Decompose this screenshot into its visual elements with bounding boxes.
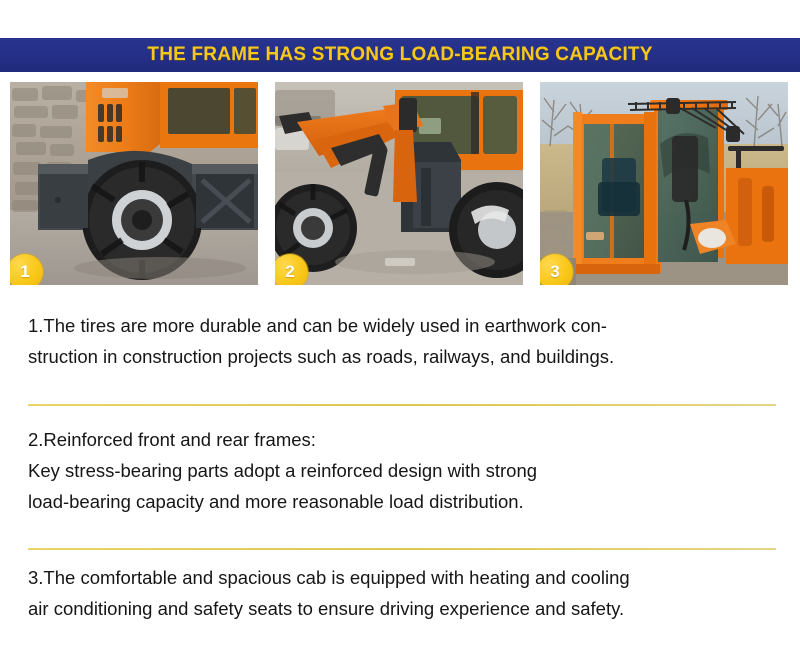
operator-cab-photo [540,82,788,285]
product-feature-panel: THE FRAME HAS STRONG LOAD-BEARING CAPACI… [0,0,800,662]
feature-paragraph-3: 3.The comfortable and spacious cab is eq… [28,562,776,624]
gallery-badge-3: 3 [540,254,573,285]
feature-paragraph-2: 2.Reinforced front and rear frames: Key … [28,424,776,517]
section-divider-1 [28,404,776,406]
gallery-badge-2: 2 [275,254,308,285]
section-divider-2 [28,548,776,550]
loader-rear-tire-photo [10,82,258,285]
gallery-badge-1: 1 [10,254,43,285]
loader-boom-frame-photo [275,82,523,285]
feature-paragraph-1: 1.The tires are more durable and can be … [28,310,776,372]
page-title: THE FRAME HAS STRONG LOAD-BEARING CAPACI… [147,44,652,66]
photo-card-2[interactable]: 2 [275,82,523,285]
photo-gallery: 1 [10,82,790,285]
photo-card-1[interactable]: 1 [10,82,258,285]
photo-card-3[interactable]: 3 [540,82,788,285]
header-banner: THE FRAME HAS STRONG LOAD-BEARING CAPACI… [0,38,800,72]
